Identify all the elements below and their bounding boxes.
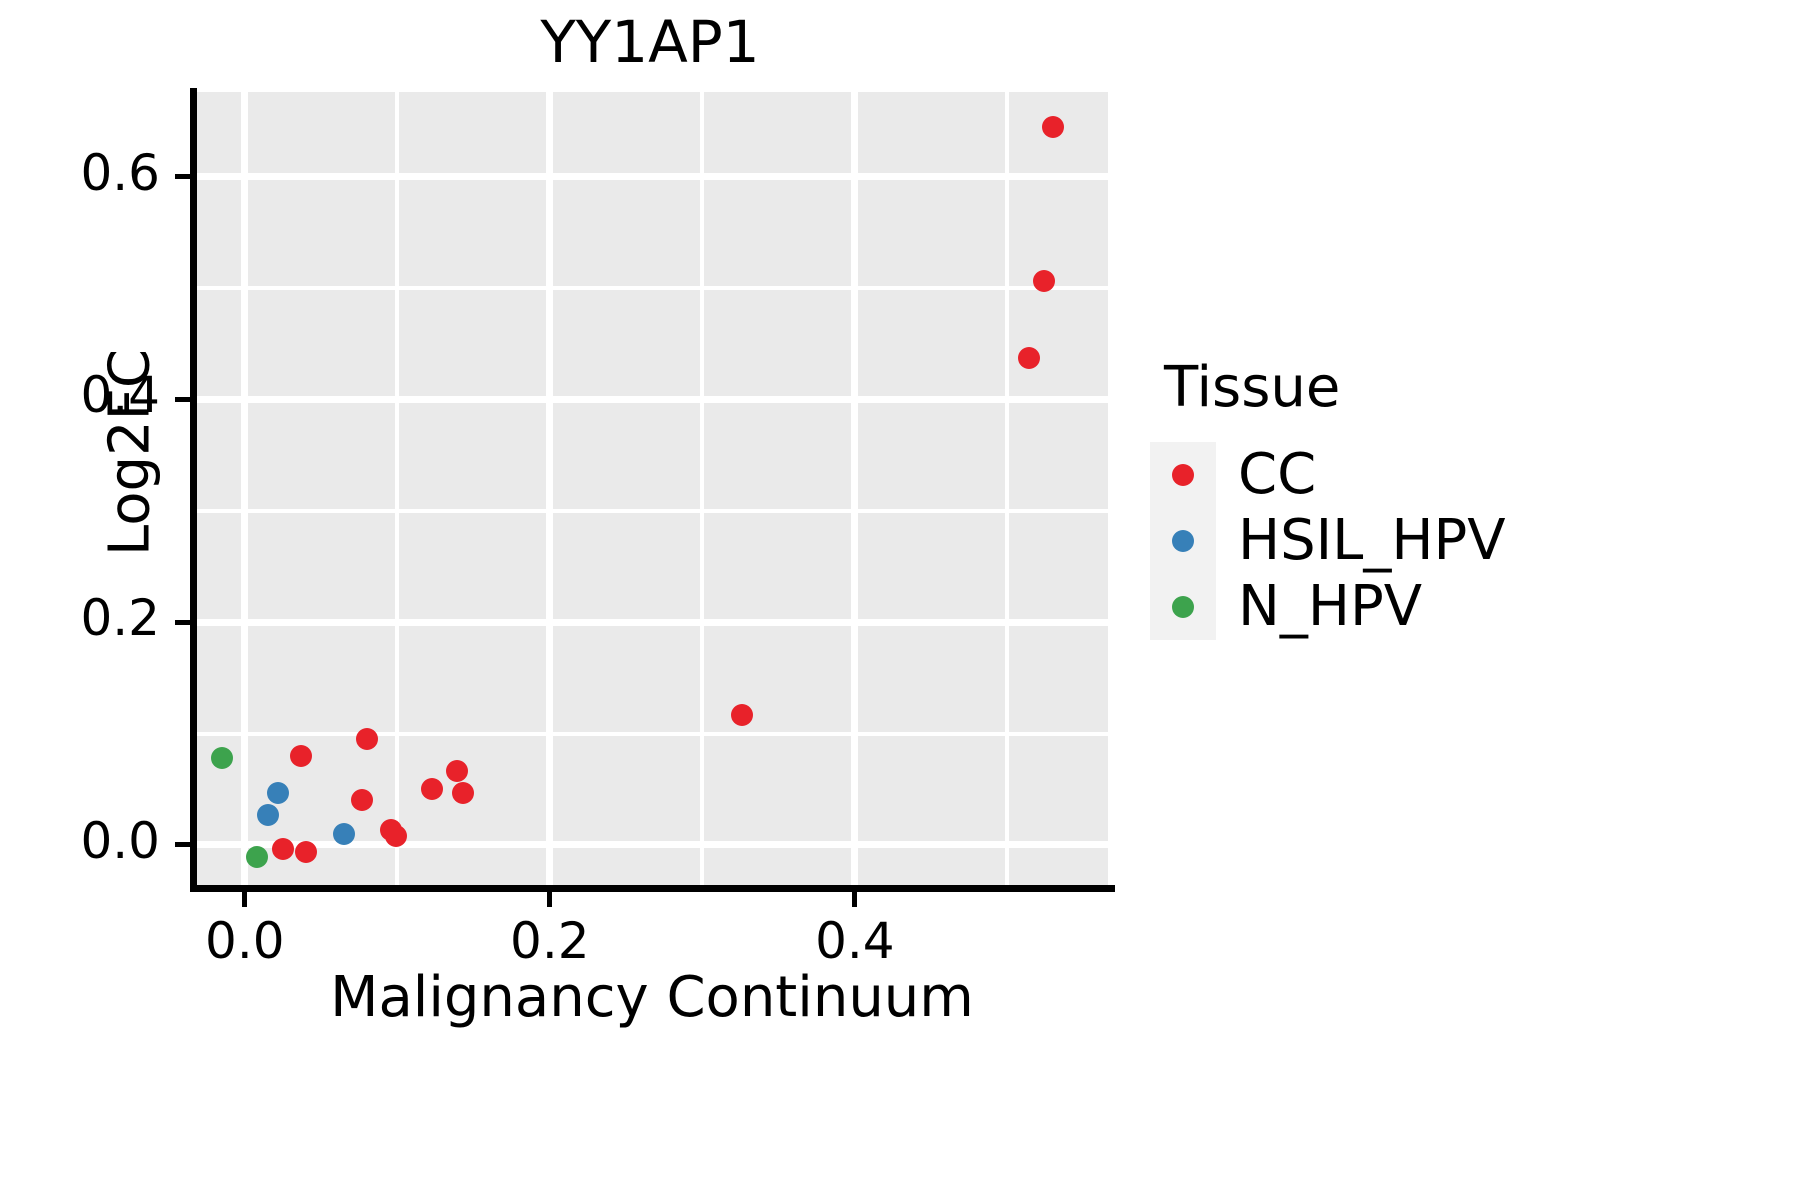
- y-axis-label: Log2FC: [98, 133, 163, 773]
- gridline-y-major: [196, 396, 1108, 403]
- data-point-hsil_hpv: [333, 823, 355, 845]
- data-point-cc: [1042, 116, 1064, 138]
- gridline-y-major: [196, 841, 1108, 848]
- x-tick-label: 0.0: [145, 912, 345, 970]
- data-point-cc: [421, 778, 443, 800]
- gridline-y-minor: [196, 509, 1108, 513]
- y-tick-mark: [175, 174, 191, 179]
- legend-item-hsil_hpv[interactable]: HSIL_HPV: [1150, 508, 1750, 574]
- gridline-x-minor: [1005, 92, 1009, 885]
- x-tick-mark: [242, 891, 247, 907]
- data-point-cc: [351, 789, 373, 811]
- y-tick-mark: [175, 397, 191, 402]
- gridline-y-minor: [196, 732, 1108, 736]
- gridline-x-major: [851, 92, 858, 885]
- y-tick-mark: [175, 620, 191, 625]
- y-axis-line: [190, 88, 197, 889]
- legend: Tissue CCHSIL_HPVN_HPV: [1150, 355, 1750, 640]
- data-point-cc: [290, 745, 312, 767]
- legend-title: Tissue: [1164, 355, 1750, 420]
- gridline-x-major: [546, 92, 553, 885]
- x-tick-label: 0.4: [755, 912, 955, 970]
- legend-item-n_hpv[interactable]: N_HPV: [1150, 574, 1750, 640]
- data-point-cc: [385, 825, 407, 847]
- data-point-cc: [446, 760, 468, 782]
- x-tick-mark: [852, 891, 857, 907]
- data-point-cc: [272, 838, 294, 860]
- gridline-y-major: [196, 173, 1108, 180]
- legend-key-swatch-box: [1150, 574, 1216, 640]
- legend-entries: CCHSIL_HPVN_HPV: [1150, 442, 1750, 640]
- legend-key-swatch-box: [1150, 442, 1216, 508]
- x-tick-mark: [547, 891, 552, 907]
- data-point-n_hpv: [211, 747, 233, 769]
- legend-color-dot-icon: [1172, 596, 1194, 618]
- data-point-cc: [452, 782, 474, 804]
- legend-item-label: CC: [1238, 447, 1316, 503]
- x-axis-line: [190, 885, 1115, 892]
- y-tick-mark: [175, 842, 191, 847]
- y-tick-label: 0.0: [20, 812, 160, 870]
- gridline-y-major: [196, 619, 1108, 626]
- legend-item-label: N_HPV: [1238, 579, 1422, 635]
- legend-item-label: HSIL_HPV: [1238, 513, 1506, 569]
- data-point-cc: [1018, 347, 1040, 369]
- gridline-x-minor: [700, 92, 704, 885]
- data-point-n_hpv: [246, 846, 268, 868]
- legend-key-swatch-box: [1150, 508, 1216, 574]
- legend-item-cc[interactable]: CC: [1150, 442, 1750, 508]
- data-point-hsil_hpv: [257, 804, 279, 826]
- scatter-plot-figure: YY1AP1 0.00.20.40.6 0.00.20.4 Log2FC Mal…: [0, 0, 1800, 1200]
- legend-color-dot-icon: [1172, 464, 1194, 486]
- data-point-hsil_hpv: [267, 782, 289, 804]
- data-point-cc: [295, 841, 317, 863]
- plot-panel: [196, 92, 1108, 885]
- gridline-x-major: [241, 92, 248, 885]
- page-title: YY1AP1: [190, 8, 1110, 76]
- gridline-y-minor: [196, 286, 1108, 290]
- x-tick-label: 0.2: [450, 912, 650, 970]
- data-point-cc: [731, 704, 753, 726]
- x-axis-label: Malignancy Continuum: [196, 965, 1108, 1030]
- legend-color-dot-icon: [1172, 530, 1194, 552]
- data-point-cc: [356, 728, 378, 750]
- gridline-x-minor: [395, 92, 399, 885]
